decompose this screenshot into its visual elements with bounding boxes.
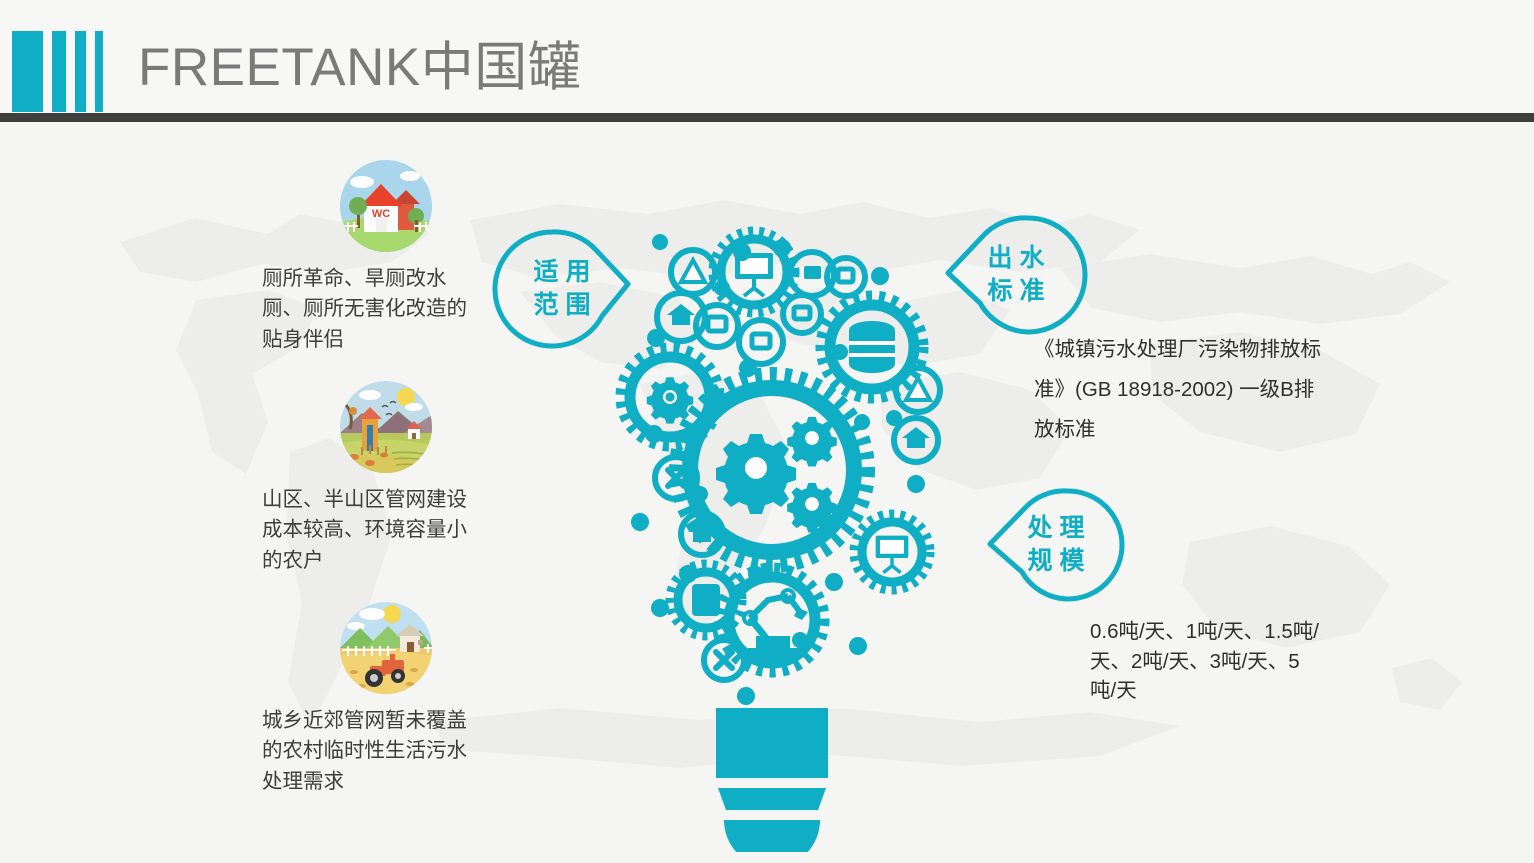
wc-toilet-house-icon: WC: [340, 160, 432, 252]
slide-canvas: FREETANK中国罐: [0, 0, 1534, 863]
rural-hillside-village-icon: [340, 381, 432, 473]
page-title: FREETANK中国罐: [138, 25, 581, 101]
four-bar-logo-icon: [12, 31, 112, 112]
list-item: 城乡近郊管网暂未覆盖的农村临时性生活污水处理需求: [262, 602, 502, 797]
svg-text:WC: WC: [372, 208, 390, 220]
list-item-text: 山区、半山区管网建设成本较高、环境容量小的农户: [262, 485, 477, 576]
callout-treatment-scale: 处理 规模: [982, 486, 1130, 604]
list-item-text: 厕所革命、旱厕改水厕、厕所无害化改造的贴身伴侣: [262, 264, 477, 355]
callout-scope-line1: 适用: [526, 256, 597, 289]
gear-lightbulb-illustration: [596, 222, 948, 852]
list-item: 山区、半山区管网建设成本较高、环境容量小的农户: [262, 381, 502, 576]
callout-scope-text: 适用 范围: [492, 228, 632, 350]
farm-tractor-field-icon: [340, 602, 432, 694]
callout-scope: 适用 范围: [492, 228, 632, 350]
callout-scale-text: 处理 规模: [982, 486, 1130, 604]
callout-standard-line1: 出水: [980, 242, 1051, 275]
callout-scope-line2: 范围: [526, 289, 597, 322]
slide-header: FREETANK中国罐: [0, 0, 1534, 113]
header-divider: [0, 113, 1534, 122]
list-item-text: 城乡近郊管网暂未覆盖的农村临时性生活污水处理需求: [262, 706, 477, 797]
callout-scale-line1: 处理: [1020, 512, 1091, 545]
callout-scale-line2: 规模: [1020, 545, 1091, 578]
left-feature-list: WC 厕所革命、旱厕改水厕、厕所无害化改造的贴身伴侣: [262, 160, 502, 823]
callout-standard-text: 出水 标准: [942, 213, 1090, 337]
treatment-scale-text: 0.6吨/天、1吨/天、1.5吨/天、2吨/天、3吨/天、5吨/天: [1090, 617, 1320, 706]
list-item: WC 厕所革命、旱厕改水厕、厕所无害化改造的贴身伴侣: [262, 160, 502, 355]
callout-discharge-standard: 出水 标准: [942, 213, 1090, 337]
discharge-standard-text: 《城镇污水处理厂污染物排放标准》(GB 18918-2002) 一级B排放标准: [1034, 330, 1334, 450]
callout-standard-line2: 标准: [980, 275, 1051, 308]
